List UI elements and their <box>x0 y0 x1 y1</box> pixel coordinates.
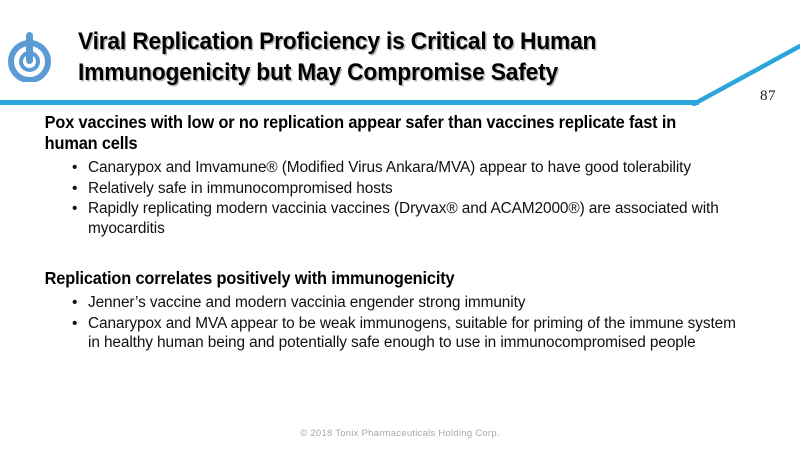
bullet-dot-icon: • <box>72 179 77 199</box>
list-item-text: Relatively safe in immunocompromised hos… <box>88 180 393 197</box>
list-item-text: Rapidly replicating modern vaccinia vacc… <box>88 200 719 237</box>
section-spacer <box>0 239 800 268</box>
content-section-1: Pox vaccines with low or no replication … <box>0 112 800 238</box>
page-title: Viral Replication Proficiency is Critica… <box>78 26 692 88</box>
bullet-dot-icon: • <box>72 158 77 178</box>
page-title-line-2: Immunogenicity but May Compromise Safety <box>78 57 692 88</box>
content-section-2: Replication correlates positively with i… <box>0 268 800 353</box>
bullet-list-1: • Canarypox and Imvamune® (Modified Viru… <box>0 158 800 238</box>
bullet-list-2: • Jenner’s vaccine and modern vaccinia e… <box>0 293 800 353</box>
slide-body: Pox vaccines with low or no replication … <box>0 112 800 354</box>
page-title-line-1: Viral Replication Proficiency is Critica… <box>78 26 692 57</box>
list-item-text: Jenner’s vaccine and modern vaccinia eng… <box>88 294 525 311</box>
list-item: • Canarypox and Imvamune® (Modified Viru… <box>0 158 800 178</box>
section-heading-2: Replication correlates positively with i… <box>0 268 760 289</box>
list-item: • Rapidly replicating modern vaccinia va… <box>0 199 800 238</box>
section-heading-1: Pox vaccines with low or no replication … <box>0 112 760 154</box>
bullet-dot-icon: • <box>72 314 77 334</box>
header-accent-rule <box>0 100 699 105</box>
list-item: • Jenner’s vaccine and modern vaccinia e… <box>0 293 800 313</box>
list-item: • Relatively safe in immunocompromised h… <box>0 179 800 199</box>
bullet-dot-icon: • <box>72 293 77 313</box>
slide-footer: © 2018 Tonix Pharmaceuticals Holding Cor… <box>0 428 800 439</box>
bullet-dot-icon: • <box>72 199 77 219</box>
slide-header: Viral Replication Proficiency is Critica… <box>0 0 800 108</box>
presentation-slide: Viral Replication Proficiency is Critica… <box>0 0 800 449</box>
list-item-text: Canarypox and Imvamune® (Modified Virus … <box>88 159 691 176</box>
list-item-text: Canarypox and MVA appear to be weak immu… <box>88 315 736 352</box>
tonix-circle-rod-logo-icon <box>8 28 54 82</box>
header-accent-diagonal <box>690 44 800 106</box>
page-number: 87 <box>760 88 776 105</box>
list-item: • Canarypox and MVA appear to be weak im… <box>0 314 800 353</box>
